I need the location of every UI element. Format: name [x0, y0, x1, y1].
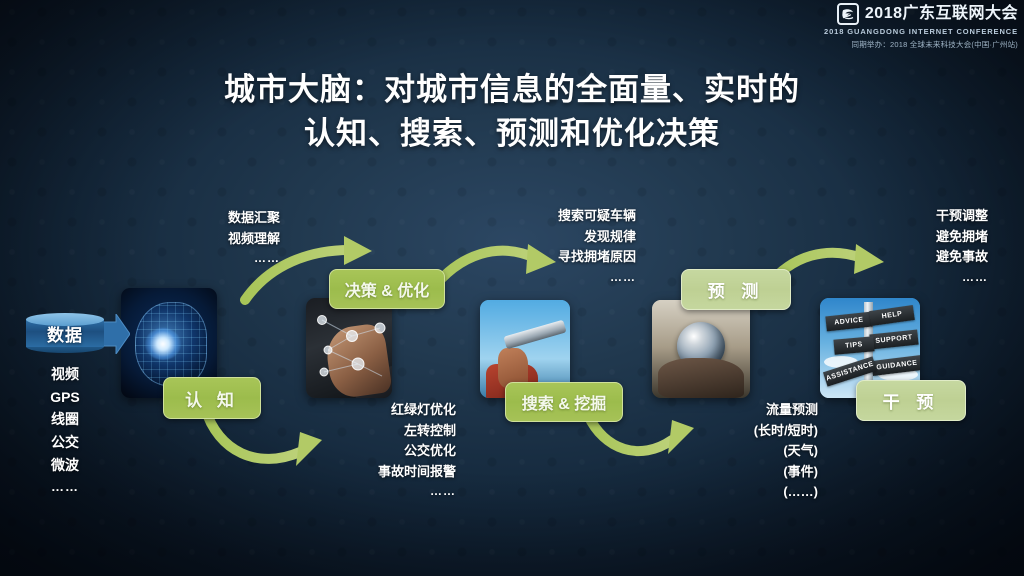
slide-canvas: 2018广东互联网大会 2018 GUANGDONG INTERNET CONF… [0, 0, 1024, 576]
network-nodes-overlay [306, 298, 392, 398]
conference-logo-icon [837, 3, 859, 25]
stage-label-prediction[interactable]: 预 测 [681, 269, 791, 310]
note-line: 数据汇聚 [170, 208, 280, 229]
note-line: 干预调整 [876, 206, 988, 227]
note-line: 发现规律 [518, 227, 636, 248]
stage-label-intervention[interactable]: 干 预 [856, 380, 966, 421]
stage-label-decision[interactable]: 决策 & 优化 [329, 269, 445, 309]
list-item: 视频 [24, 363, 106, 386]
slide-title: 城市大脑：对城市信息的全面量、实时的 认知、搜索、预测和优化决策 [0, 68, 1024, 156]
note-line: (天气) [700, 441, 818, 462]
slide-title-line-1: 城市大脑：对城市信息的全面量、实时的 [0, 68, 1024, 112]
notes-prediction: 流量预测 (长时/短时) (天气) (事件) (……) [700, 400, 818, 503]
note-line: 寻找拥堵原因 [518, 247, 636, 268]
note-line: 流量预测 [700, 400, 818, 421]
notes-intervention: 干预调整 避免拥堵 避免事故 …… [876, 206, 988, 287]
data-source-item-list: 视频 GPS 线圈 公交 微波 …… [24, 363, 106, 497]
brain-glow [145, 328, 181, 360]
hand-touch-interface-photo [306, 298, 392, 398]
conference-logo-subtitle-cn: 同期举办：2018 全球未来科技大会(中国·广州站) [824, 39, 1018, 50]
note-line: 视频理解 [170, 229, 280, 250]
stage-label-cognition[interactable]: 认 知 [163, 377, 261, 419]
note-line: …… [170, 249, 280, 268]
list-item: 公交 [24, 431, 106, 454]
note-line: 避免拥堵 [876, 227, 988, 248]
note-line: 左转控制 [338, 421, 456, 442]
note-line: (事件) [700, 462, 818, 483]
conference-logo-title: 2018广东互联网大会 [865, 6, 1018, 22]
conference-logo-block: 2018广东互联网大会 2018 GUANGDONG INTERNET CONF… [824, 3, 1018, 50]
note-line: (长时/短时) [700, 421, 818, 442]
notes-decision: 红绿灯优化 左转控制 公交优化 事故时间报警 …… [338, 400, 456, 501]
note-line: 事故时间报警 [338, 462, 456, 483]
list-item: 微波 [24, 454, 106, 477]
list-item: GPS [24, 386, 106, 409]
notes-cognition: 数据汇聚 视频理解 …… [170, 208, 280, 268]
note-line: …… [876, 268, 988, 287]
stage-label-search[interactable]: 搜索 & 挖掘 [505, 382, 623, 422]
note-line: …… [338, 482, 456, 501]
notes-search: 搜索可疑车辆 发现规律 寻找拥堵原因 …… [518, 206, 636, 287]
blue-arrow-icon [100, 314, 130, 354]
list-item: 线圈 [24, 408, 106, 431]
data-source-cylinder: 数据 [26, 313, 104, 353]
data-source-label: 数据 [26, 313, 104, 353]
note-line: (……) [700, 482, 818, 503]
note-line: 公交优化 [338, 441, 456, 462]
note-line: 避免事故 [876, 247, 988, 268]
list-item: …… [24, 476, 106, 497]
note-line: …… [518, 268, 636, 287]
conference-logo-subtitle-en: 2018 GUANGDONG INTERNET CONFERENCE [824, 27, 1018, 36]
crystal-ball-in-hand-photo [652, 300, 750, 398]
slide-title-line-2: 认知、搜索、预测和优化决策 [0, 112, 1024, 156]
note-line: 搜索可疑车辆 [518, 206, 636, 227]
hand-shape [658, 358, 744, 398]
note-line: 红绿灯优化 [338, 400, 456, 421]
